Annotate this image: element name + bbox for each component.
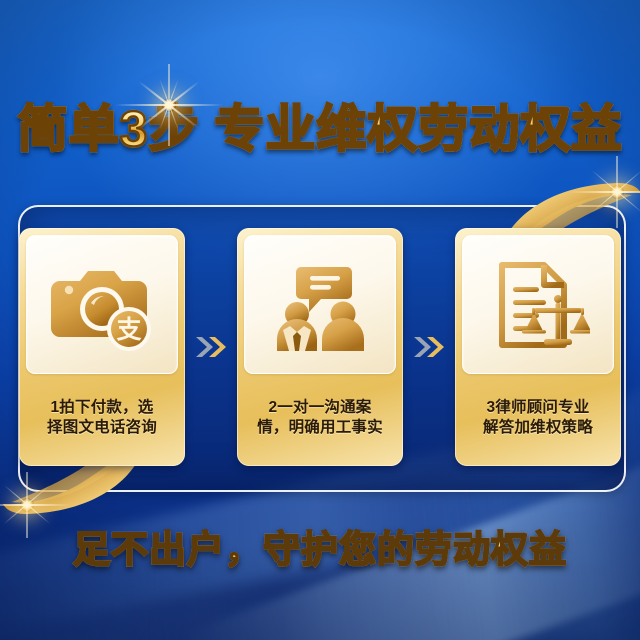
alipay-badge-text: 支 xyxy=(116,316,141,344)
document-scales-icon xyxy=(486,259,590,351)
step-3-caption: 3律师顾问专业 解答加维权策略 xyxy=(462,374,614,460)
step-1-caption: 1拍下付款，选 择图文电话咨询 xyxy=(26,374,178,460)
page-tagline: 足不出户，守护您的劳动权益 xyxy=(0,531,640,568)
two-people-chat-icon xyxy=(268,259,372,351)
step-2-caption: 2一对一沟通案 情，明确用工事实 xyxy=(244,374,396,460)
step-separator-2 xyxy=(403,228,455,466)
steps-row: 支 1拍下付款，选 择图文电话咨询 xyxy=(18,228,622,466)
double-chevron-right-icon xyxy=(194,335,228,359)
camera-alipay-icon: 支 xyxy=(50,259,154,351)
promo-poster: 简单3步 专业维权劳动权益 xyxy=(0,0,640,640)
step-1-icon-box: 支 xyxy=(26,235,178,374)
step-2-caption-line1: 2一对一沟通案 xyxy=(268,398,371,418)
step-3-caption-line2: 解答加维权策略 xyxy=(483,418,593,438)
step-2-caption-line2: 情，明确用工事实 xyxy=(257,418,383,438)
page-title: 简单3步 专业维权劳动权益 xyxy=(0,104,640,154)
step-3-icon-box xyxy=(462,235,614,374)
step-2-icon-box xyxy=(244,235,396,374)
step-1-caption-line2: 择图文电话咨询 xyxy=(47,418,157,438)
step-card-1[interactable]: 支 1拍下付款，选 择图文电话咨询 xyxy=(19,228,185,466)
step-1-caption-line1: 1拍下付款，选 xyxy=(50,398,153,418)
step-card-2[interactable]: 2一对一沟通案 情，明确用工事实 xyxy=(237,228,403,466)
sparkle-icon xyxy=(26,504,28,506)
step-3-caption-line1: 3律师顾问专业 xyxy=(486,398,589,418)
step-card-3[interactable]: 3律师顾问专业 解答加维权策略 xyxy=(455,228,621,466)
step-separator-1 xyxy=(185,228,237,466)
sparkle-icon xyxy=(616,191,618,193)
double-chevron-right-icon xyxy=(412,335,446,359)
